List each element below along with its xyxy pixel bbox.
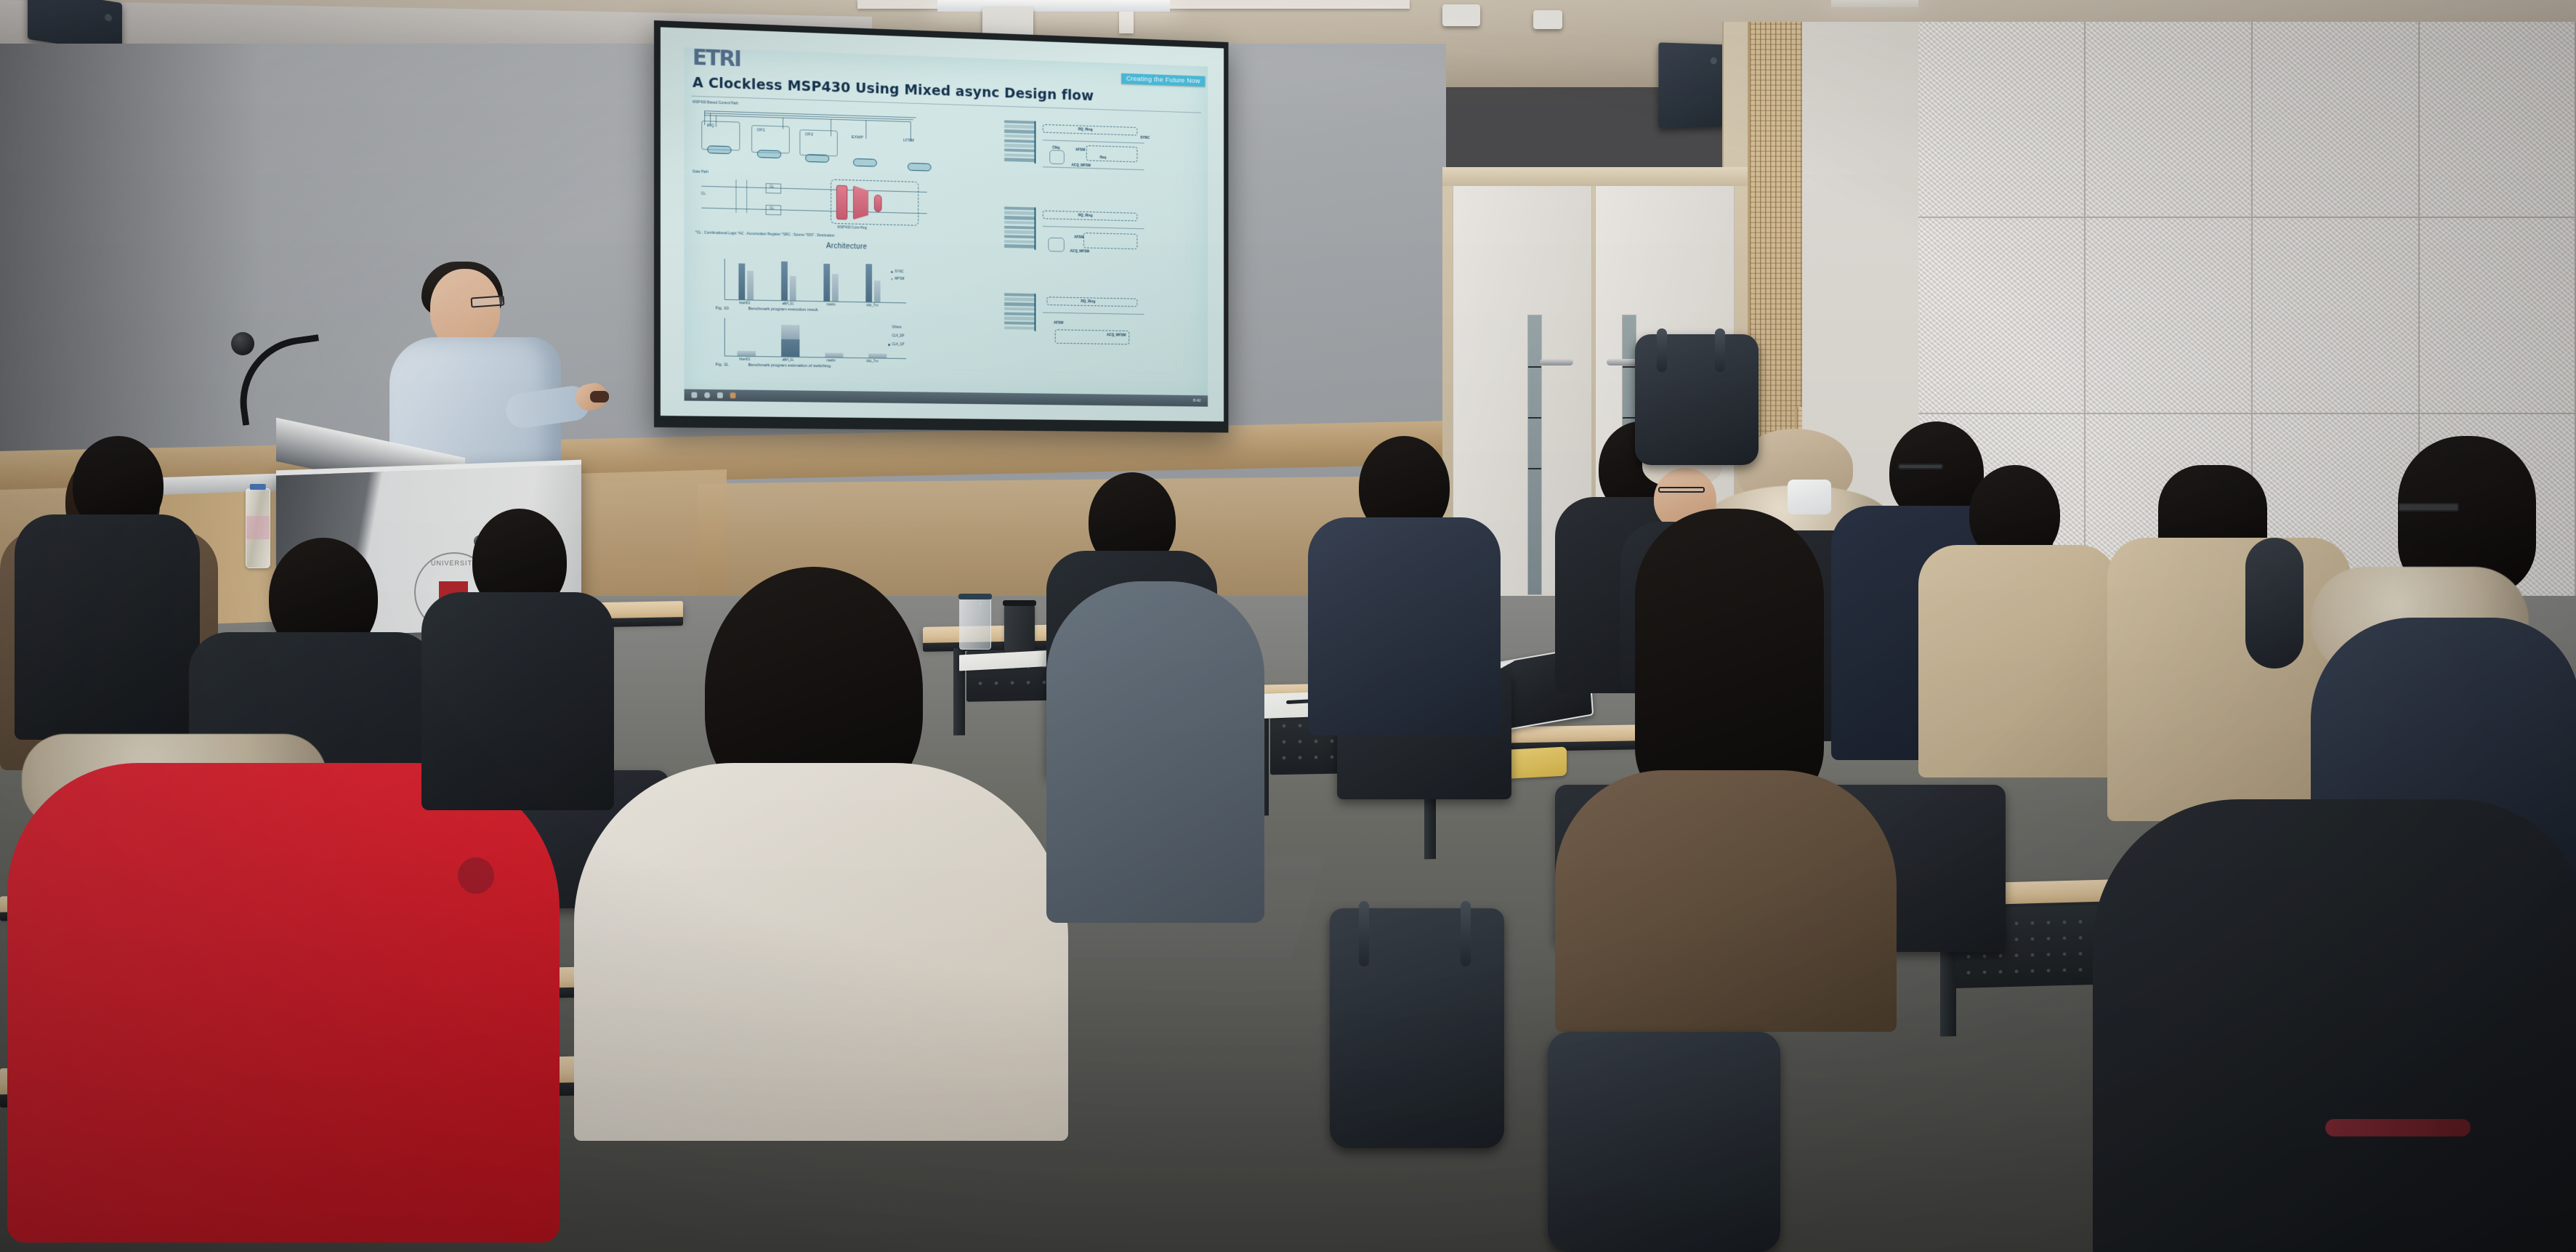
bar-category-label: idct_7xx — [860, 359, 885, 363]
backpack-strap — [1715, 328, 1725, 372]
clkg-block — [1048, 237, 1064, 251]
signal-row — [1004, 244, 1034, 248]
slide-body: MSP430 Based Control Path — [691, 100, 1202, 382]
ceiling-sensor — [1442, 4, 1480, 26]
projection-screen: ETRI Creating the Future Now A Clockless… — [654, 20, 1228, 432]
core-alu-red-block — [853, 185, 868, 220]
wave-tag-rq-ring: RQ_Ring — [1078, 127, 1093, 132]
signal-row — [1004, 326, 1034, 330]
slide-org-logo: ETRI — [693, 47, 740, 72]
cl-block-label: CL — [701, 191, 706, 195]
acoustic-tile — [2086, 218, 2253, 414]
signal-row — [1004, 230, 1034, 234]
wave-tag-rq-ring: RQ_Ring — [1078, 213, 1093, 217]
glass-divider — [1623, 366, 1636, 368]
bar-others — [737, 350, 755, 355]
stage-label-exmp: EXMP — [852, 135, 863, 140]
signal-row — [1004, 125, 1034, 129]
figure-11-id: Fig. 11. — [716, 363, 730, 367]
figure-10-chart: bsort01 aifirf_01 matrix idct_7xx SYNC M… — [713, 258, 917, 307]
bar-sync — [781, 261, 788, 300]
wave-tag-acq: ACQ_MFSM — [1070, 249, 1089, 254]
glass-divider — [1528, 417, 1541, 419]
handshake-pill — [908, 163, 931, 171]
door-header — [1442, 167, 1748, 186]
figure-10-caption: Benchmark program execution result. — [748, 307, 819, 312]
jacket-logo-badge — [458, 857, 494, 894]
register-file — [735, 179, 747, 213]
handshake-pill — [756, 150, 780, 158]
torso — [1555, 770, 1897, 1032]
bar-others — [868, 353, 887, 358]
figure-11-chart: bsort01 aifirf_01 matrix idct_7xx Others… — [713, 318, 917, 365]
core-reg-red-block — [836, 185, 847, 219]
bottle-label — [246, 516, 270, 539]
wave-tag-sync: SYNC — [1140, 136, 1150, 140]
waveform-group-2: RQ_Ring AFSM ACQ_MFSM — [1004, 206, 1202, 288]
chart-y-axis — [724, 318, 724, 355]
acoustic-tile — [2253, 22, 2420, 218]
signal-name-list — [1004, 206, 1035, 250]
bar-category-label: aifirf_01 — [775, 358, 801, 361]
glass-divider — [1528, 366, 1541, 368]
os-taskbar[interactable]: 8:42 — [684, 389, 1208, 406]
signal-row — [1004, 221, 1034, 225]
wave-tag-clkg: Clkg — [1052, 145, 1059, 150]
stage-label-of1: OF1 — [756, 128, 764, 132]
waveform-group-1: RQ_Ring SYNC AFSM Req Clkg ACQ_MFSM — [1004, 120, 1202, 203]
acoustic-tile — [2420, 22, 2576, 218]
bar-others — [825, 352, 843, 357]
backpack-strap — [1657, 328, 1667, 372]
bar-mpsm — [832, 274, 839, 302]
acoustic-tile — [1918, 218, 2086, 414]
legend-label: CLK_CP — [892, 342, 916, 346]
signal-name-list — [1004, 293, 1035, 331]
audience-member-gray-hood — [1046, 581, 1264, 930]
taskbar-clock: 8:42 — [1193, 398, 1201, 403]
door-glass-strip — [1527, 315, 1542, 595]
afsm-outline — [1083, 233, 1137, 249]
bar-sync — [738, 263, 745, 299]
bar-mpsm — [789, 276, 796, 301]
ceiling-light — [937, 0, 1170, 12]
signal-row — [1004, 206, 1034, 210]
architecture-caption: Architecture — [691, 239, 999, 254]
start-icon[interactable] — [691, 392, 697, 397]
legend-label: CLK_DP — [892, 334, 916, 337]
legend-dot-icon — [891, 278, 893, 280]
signal-row — [1004, 134, 1034, 139]
long-hair-head — [1635, 509, 1824, 814]
screen-surface: ETRI Creating the Future Now A Clockless… — [661, 27, 1224, 421]
signal-row — [1004, 293, 1034, 296]
lecture-hall-scene: ETRI Creating the Future Now A Clockless… — [0, 0, 2576, 1252]
glasses-icon — [2398, 503, 2459, 512]
slide-footnote: *CL : Combinational Logic *AC : Accumula… — [695, 230, 834, 238]
slide-right-column: RQ_Ring SYNC AFSM Req Clkg ACQ_MFSM — [1004, 110, 1202, 382]
audience-member-front-right — [2093, 770, 2576, 1252]
folder-icon[interactable] — [717, 392, 723, 398]
microphone-head-icon — [231, 332, 254, 355]
bar-category-label: bsort01 — [732, 357, 756, 360]
bar-sync — [823, 264, 830, 302]
acoustic-tile — [2420, 218, 2576, 414]
wave-tag-afsm: AFSM — [1075, 148, 1085, 152]
waveform-group-3: RQ_Ring AFSM ACQ_MFSM — [1004, 293, 1202, 373]
signal-row — [1004, 158, 1034, 162]
glasses-icon — [1658, 487, 1705, 493]
legend-dot-icon — [891, 271, 893, 273]
gray-hoodie — [1046, 581, 1264, 923]
bar-others-stack — [781, 325, 799, 339]
data-path-label: Data Path — [693, 169, 708, 174]
signal-row — [1004, 312, 1034, 315]
glass-divider — [1528, 468, 1541, 469]
wave-line — [1043, 312, 1144, 314]
audience-member-4 — [15, 436, 196, 741]
signal-row — [1004, 129, 1034, 134]
bar-sync — [865, 264, 872, 302]
acoustic-tile — [2086, 22, 2253, 218]
afsm-outline — [1086, 145, 1138, 162]
wave-tag-afsm: AFSM — [1054, 320, 1063, 325]
glass-divider — [1623, 417, 1636, 419]
presenter-clicker[interactable] — [590, 391, 609, 403]
signal-row — [1004, 235, 1034, 238]
wave-line — [1043, 226, 1144, 229]
clkg-block — [1049, 150, 1065, 164]
bottle-cap — [250, 484, 266, 490]
core-mux-red-block — [873, 195, 881, 212]
bar-category-label: aifirf_01 — [775, 302, 801, 306]
signal-row — [1004, 120, 1034, 124]
bar-category-label: matrix — [819, 302, 843, 307]
backpack-strap — [1461, 901, 1471, 966]
wave-line — [1043, 140, 1144, 143]
signal-row — [1004, 144, 1034, 148]
legend-label: Others — [892, 325, 916, 328]
signal-row — [1004, 240, 1034, 243]
handshake-pill — [805, 154, 829, 163]
audience-member-left-3 — [421, 509, 610, 799]
backpack-on-chair[interactable] — [1635, 334, 1759, 465]
figure-11-caption: Benchmark program estimation of switchin… — [748, 363, 832, 369]
handshake-pill — [853, 158, 877, 167]
cl-block-label: CL — [770, 185, 774, 189]
audience-member-right-b — [1918, 465, 2115, 770]
signal-row — [1004, 317, 1034, 320]
ceiling-fixture — [1533, 10, 1562, 29]
signal-row — [1004, 321, 1034, 325]
red-puffer-jacket — [7, 763, 560, 1243]
presentation-slide: ETRI Creating the Future Now A Clockless… — [684, 47, 1208, 406]
signal-row — [1004, 148, 1034, 153]
wall-speaker-right — [1658, 42, 1726, 128]
signal-row — [1004, 153, 1034, 158]
signal-row — [1004, 139, 1034, 143]
door-handle-left[interactable] — [1540, 359, 1573, 365]
jacket-stripe — [2325, 1119, 2471, 1136]
cream-puffer-jacket — [574, 763, 1068, 1141]
bar-mpsm — [873, 280, 880, 302]
audience-member-6 — [1308, 436, 1497, 727]
torso — [2093, 799, 2576, 1252]
acoustic-tile — [2253, 218, 2420, 414]
speaker-dot-icon — [105, 13, 112, 22]
torso — [1918, 545, 2118, 778]
bar-category-label: matrix — [819, 358, 843, 362]
wave-tag-rq-ring: RQ_Ring — [1081, 299, 1095, 304]
torso — [1308, 517, 1501, 735]
slide-left-column: MSP430 Based Control Path — [691, 100, 999, 379]
hood-fold — [2245, 538, 2304, 669]
audience-member-2 — [574, 567, 1054, 1119]
wave-tag-acq: ACQ_MFSM — [1107, 333, 1126, 337]
stage-label-lfsm: LFSM — [903, 138, 914, 142]
signal-row — [1004, 216, 1034, 219]
chart-y-axis — [724, 259, 724, 299]
bar-mpsm — [747, 270, 754, 299]
handshake-pill — [707, 145, 731, 154]
signal-row — [1004, 211, 1034, 215]
speaker-dot-icon — [1711, 57, 1717, 65]
legend-label: SYNC — [895, 270, 918, 274]
bar-category-label: idct_7xx — [860, 303, 885, 307]
backpack-strap — [1359, 901, 1369, 966]
torso — [421, 592, 614, 810]
control-path-label: MSP430 Based Control Path — [693, 100, 738, 105]
signal-row — [1004, 225, 1034, 229]
bar-category-label: bsort01 — [732, 301, 756, 305]
wave-tag-req: Req — [1100, 156, 1107, 160]
backpack[interactable] — [1330, 908, 1504, 1148]
signal-name-list — [1004, 120, 1035, 163]
legend-dot-icon — [888, 344, 890, 346]
ceiling-light-right — [1831, 0, 1918, 7]
acoustic-tile — [1918, 22, 2086, 218]
stage-label-ifq: IFQ — [707, 124, 714, 128]
torso — [15, 514, 200, 740]
stage-label-of2: OF2 — [805, 132, 813, 137]
browser-icon[interactable] — [704, 392, 710, 397]
cl-block-label: CL — [770, 206, 774, 211]
signal-row — [1004, 307, 1034, 311]
signal-row — [1004, 298, 1034, 302]
figure-10-id: Fig. 10. — [716, 306, 730, 310]
signal-row — [1004, 302, 1034, 306]
wave-line — [1043, 166, 1144, 170]
arch-wire — [865, 120, 866, 139]
slide-title: A Clockless MSP430 Using Mixed async Des… — [693, 74, 1094, 104]
app-icon[interactable] — [730, 392, 735, 398]
slide-badge: Creating the Future Now — [1121, 73, 1205, 86]
wave-tag-afsm: AFSM — [1074, 235, 1083, 239]
backpack[interactable] — [1548, 1032, 1780, 1252]
core-reg-label: MSP430 Core Reg — [837, 225, 867, 230]
legend-label: MPSM — [895, 277, 918, 281]
